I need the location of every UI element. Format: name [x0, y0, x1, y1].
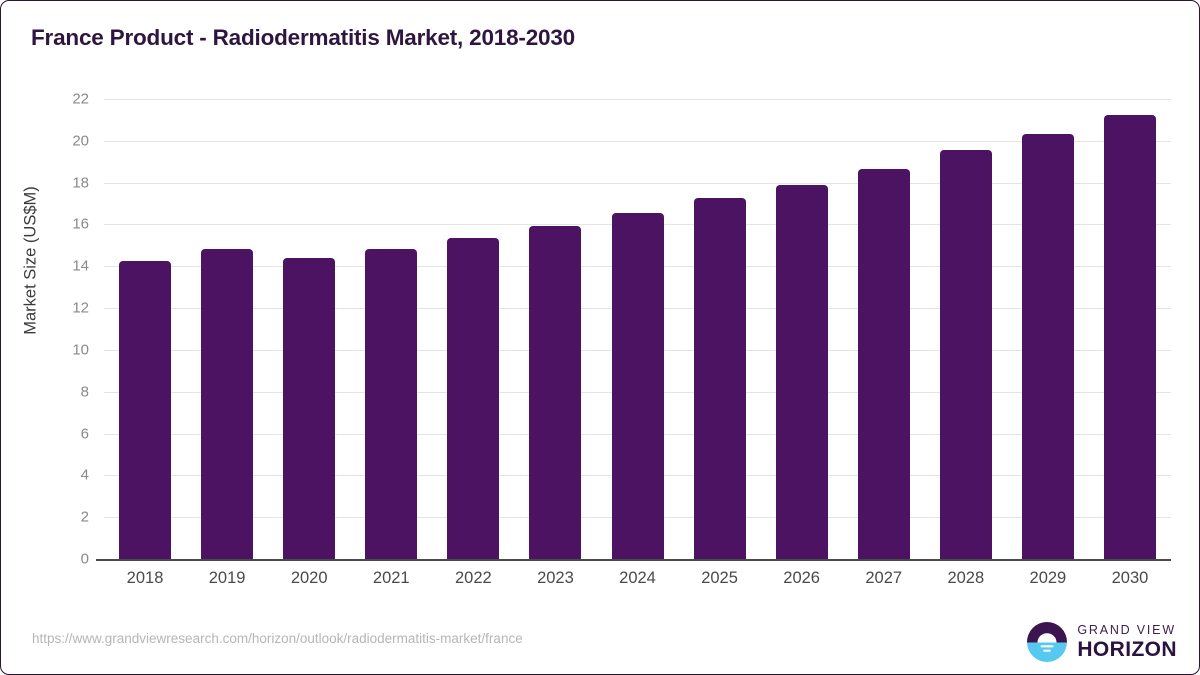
x-tick-label: 2022	[432, 569, 514, 588]
x-tick-label: 2025	[679, 569, 761, 588]
bar-group[interactable]	[119, 99, 171, 559]
y-tick-label: 8	[49, 383, 89, 400]
bar-2020[interactable]	[283, 258, 335, 559]
bar-group[interactable]	[365, 99, 417, 559]
brand-logo[interactable]: GRAND VIEW HORIZON	[1026, 621, 1177, 663]
y-tick-label: 0	[49, 551, 89, 568]
chart-page: France Product - Radiodermatitis Market,…	[0, 0, 1200, 675]
bar-group[interactable]	[858, 99, 910, 559]
bar-2021[interactable]	[365, 249, 417, 560]
horizon-circle-icon	[1026, 621, 1068, 663]
bar-group[interactable]	[612, 99, 664, 559]
bar-2028[interactable]	[940, 150, 992, 559]
bar-2022[interactable]	[447, 238, 499, 559]
x-axis-line	[96, 559, 1171, 561]
x-tick-label: 2027	[843, 569, 925, 588]
x-tick-label: 2020	[268, 569, 350, 588]
bar-2024[interactable]	[612, 213, 664, 559]
bar-group[interactable]	[529, 99, 581, 559]
bar-2019[interactable]	[201, 249, 253, 560]
x-tick-label: 2024	[597, 569, 679, 588]
x-tick-label: 2021	[350, 569, 432, 588]
x-tick-label: 2030	[1089, 569, 1171, 588]
x-tick-label: 2028	[925, 569, 1007, 588]
page-title: France Product - Radiodermatitis Market,…	[31, 25, 575, 51]
bar-group[interactable]	[694, 99, 746, 559]
bar-group[interactable]	[447, 99, 499, 559]
bar-2027[interactable]	[858, 169, 910, 559]
y-tick-label: 18	[49, 174, 89, 191]
bar-group[interactable]	[201, 99, 253, 559]
y-tick-label: 6	[49, 425, 89, 442]
x-tick-label: 2019	[186, 569, 268, 588]
logo-text-horizon: HORIZON	[1077, 639, 1177, 660]
y-tick-label: 16	[49, 216, 89, 233]
bar-group[interactable]	[940, 99, 992, 559]
plot-area	[104, 99, 1171, 559]
source-url[interactable]: https://www.grandviewresearch.com/horizo…	[32, 631, 523, 646]
y-tick-label: 4	[49, 467, 89, 484]
x-tick-label: 2026	[761, 569, 843, 588]
x-tick-label: 2023	[514, 569, 596, 588]
logo-text-grand-view: GRAND VIEW	[1077, 624, 1177, 637]
bar-2018[interactable]	[119, 261, 171, 559]
y-tick-label: 22	[49, 91, 89, 108]
bar-2029[interactable]	[1022, 134, 1074, 560]
x-tick-label: 2018	[104, 569, 186, 588]
y-tick-label: 12	[49, 300, 89, 317]
bar-group[interactable]	[776, 99, 828, 559]
x-tick-label: 2029	[1007, 569, 1089, 588]
bar-2023[interactable]	[529, 226, 581, 560]
y-tick-label: 2	[49, 509, 89, 526]
y-tick-label: 14	[49, 258, 89, 275]
bar-2025[interactable]	[694, 198, 746, 559]
y-tick-label: 20	[49, 132, 89, 149]
bar-group[interactable]	[283, 99, 335, 559]
y-tick-label: 10	[49, 341, 89, 358]
y-axis-ticks: 0246810121416182022	[1, 1, 89, 675]
bar-group[interactable]	[1022, 99, 1074, 559]
logo-wordmark: GRAND VIEW HORIZON	[1077, 624, 1177, 661]
bar-group[interactable]	[1104, 99, 1156, 559]
bar-2026[interactable]	[776, 185, 828, 559]
bar-2030[interactable]	[1104, 115, 1156, 559]
